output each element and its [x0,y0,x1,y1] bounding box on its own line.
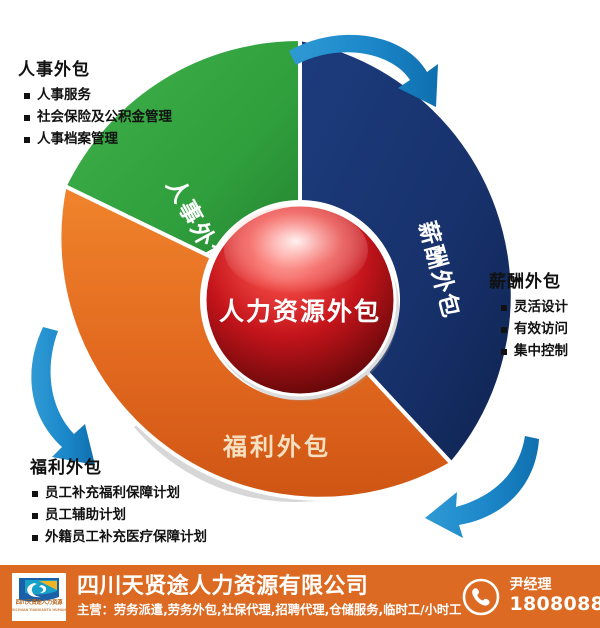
center-sphere[interactable]: 人力资源外包 [205,205,399,401]
list-item: 社会保险及公积金管理 [24,107,172,129]
company-logo: 四川天贤途人力资源 SICHUAN TIANXIANTU HUMAN RESOU… [12,573,66,621]
block-heading-welfare: 福利外包 [30,458,207,478]
bullet-icon [501,349,507,355]
text-block-pay-outsourcing: 薪酬外包 灵活设计 有效访问 集中控制 [487,272,568,363]
list-item-label: 员工补充福利保障计划 [45,483,180,505]
logo-wordmark-cn: 四川天贤途人力资源 [16,600,63,606]
contact-block[interactable]: 尹经理 18080880089 [461,577,600,617]
list-item: 外籍员工补充医疗保障计划 [32,527,207,549]
list-item-label: 外籍员工补充医疗保障计划 [45,527,207,549]
list-item-label: 有效访问 [514,319,568,341]
list-item-label: 员工辅助计划 [45,505,126,527]
bullet-icon [24,137,30,143]
bullet-icon [24,93,30,99]
company-name: 四川天贤途人力资源有限公司 [77,575,461,599]
list-item: 灵活设计 [501,297,568,319]
logo-wordmark-en: SICHUAN TIANXIANTU HUMAN RESOURCES [12,608,66,612]
logo-wordmark: 四川天贤途人力资源 SICHUAN TIANXIANTU HUMAN RESOU… [12,600,66,615]
list-item: 集中控制 [501,341,568,363]
list-item-label: 人事服务 [37,85,91,107]
list-item: 人事档案管理 [24,129,172,151]
company-info: 四川天贤途人力资源有限公司 主营：劳务派遣,劳务外包,社保代理,招聘代理,仓储服… [77,575,461,619]
bullet-icon [32,535,38,541]
text-block-welfare-outsourcing: 福利外包 员工补充福利保障计划 员工辅助计划 外籍员工补充医疗保障计划 [22,458,207,549]
block-heading-pay: 薪酬外包 [489,272,568,292]
bullet-icon [24,115,30,121]
list-item-label: 人事档案管理 [37,129,118,151]
bullet-icon [32,513,38,519]
list-item: 员工辅助计划 [32,505,207,527]
list-item: 人事服务 [24,85,172,107]
block-list-welfare: 员工补充福利保障计划 员工辅助计划 外籍员工补充医疗保障计划 [32,483,207,549]
text-block-hr-outsourcing: 人事外包 人事服务 社会保险及公积金管理 人事档案管理 [16,60,172,151]
bullet-icon [501,305,507,311]
company-services: 主营：劳务派遣,劳务外包,社保代理,招聘代理,仓储服务,临时工/小时工 [77,603,461,618]
block-heading-hr: 人事外包 [18,60,172,80]
list-item: 员工补充福利保障计划 [32,483,207,505]
bullet-icon [32,491,38,497]
contact-text: 尹经理 18080880089 [509,577,600,616]
bullet-icon [501,327,507,333]
segment-label-welfare: 福利外包 [222,433,331,461]
list-item-label: 集中控制 [514,341,568,363]
block-list-pay: 灵活设计 有效访问 集中控制 [501,297,568,363]
phone-icon[interactable] [461,577,501,617]
footer-banner: 四川天贤途人力资源 SICHUAN TIANXIANTU HUMAN RESOU… [0,565,600,628]
list-item-label: 灵活设计 [514,297,568,319]
list-item: 有效访问 [501,319,568,341]
center-sphere-label: 人力资源外包 [219,297,381,326]
list-item-label: 社会保险及公积金管理 [37,107,172,129]
block-list-hr: 人事服务 社会保险及公积金管理 人事档案管理 [24,85,172,151]
contact-person: 尹经理 [509,577,600,593]
contact-phone[interactable]: 18080880089 [509,594,600,616]
